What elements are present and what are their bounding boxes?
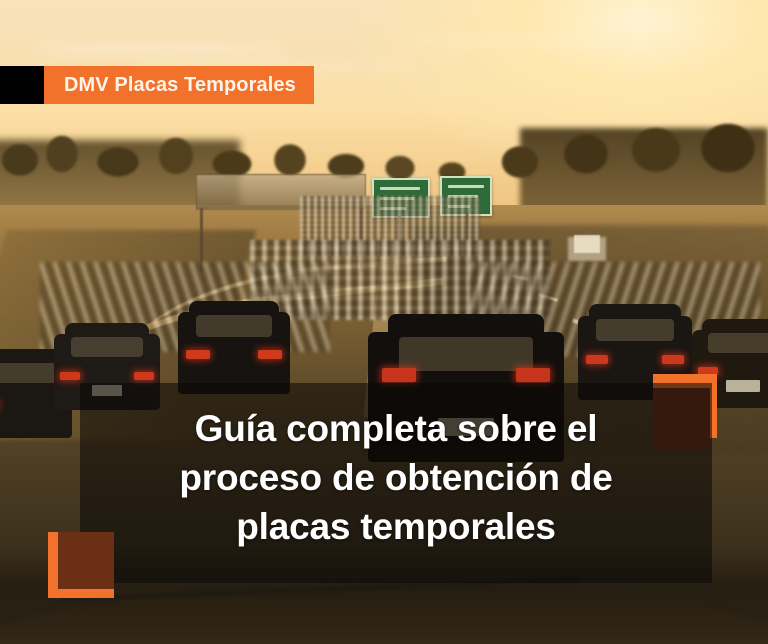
foreground-car	[178, 312, 290, 394]
page-title: Guía completa sobre el proceso de obtenc…	[80, 404, 712, 552]
badge-black-block	[0, 66, 44, 104]
title-line-3: placas temporales	[80, 502, 712, 551]
cloud-wisp	[30, 44, 290, 54]
cloud-wisp	[400, 36, 620, 45]
roadside-sign-white	[574, 235, 600, 253]
hero-banner: DMV Placas Temporales Guía completa sobr…	[0, 0, 768, 644]
badge-label: DMV Placas Temporales	[64, 75, 296, 95]
title-line-2: proceso de obtención de	[80, 453, 712, 502]
title-line-1: Guía completa sobre el	[80, 404, 712, 453]
category-badge[interactable]: DMV Placas Temporales	[0, 66, 314, 104]
badge-orange-block[interactable]: DMV Placas Temporales	[44, 66, 314, 104]
